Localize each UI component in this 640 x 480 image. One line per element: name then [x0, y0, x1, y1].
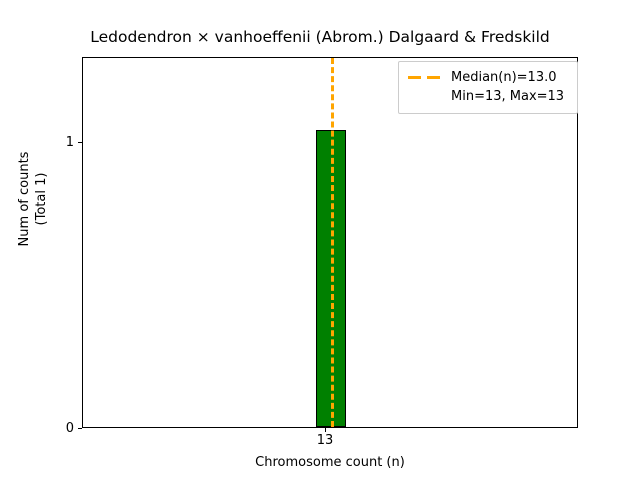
y-axis-label-line-2: (Total 1) [33, 39, 50, 359]
chart-figure: Ledodendron × vanhoeffenii (Abrom.) Dalg… [0, 0, 640, 480]
chart-title: Ledodendron × vanhoeffenii (Abrom.) Dalg… [0, 28, 640, 47]
legend: Median(n)=13.0 Min=13, Max=13 [398, 61, 578, 114]
legend-label-line-1: Median(n)=13.0 [451, 68, 564, 87]
legend-entry-median: Median(n)=13.0 Min=13, Max=13 [407, 68, 569, 106]
x-tick-label-13: 13 [295, 434, 355, 448]
y-tick-label-0: 0 [52, 422, 74, 435]
x-tick-mark-13 [325, 428, 326, 432]
legend-dashed-line-icon [407, 70, 443, 86]
x-axis-label: Chromosome count (n) [82, 455, 578, 470]
y-axis-label-line-1: Num of counts [16, 39, 33, 359]
y-tick-label-1: 1 [52, 136, 74, 149]
legend-label-line-2: Min=13, Max=13 [451, 87, 564, 106]
y-tick-mark-0 [78, 428, 82, 429]
median-line [331, 58, 334, 427]
y-axis-label: Num of counts (Total 1) [16, 39, 50, 359]
legend-entry-label: Median(n)=13.0 Min=13, Max=13 [451, 68, 564, 106]
